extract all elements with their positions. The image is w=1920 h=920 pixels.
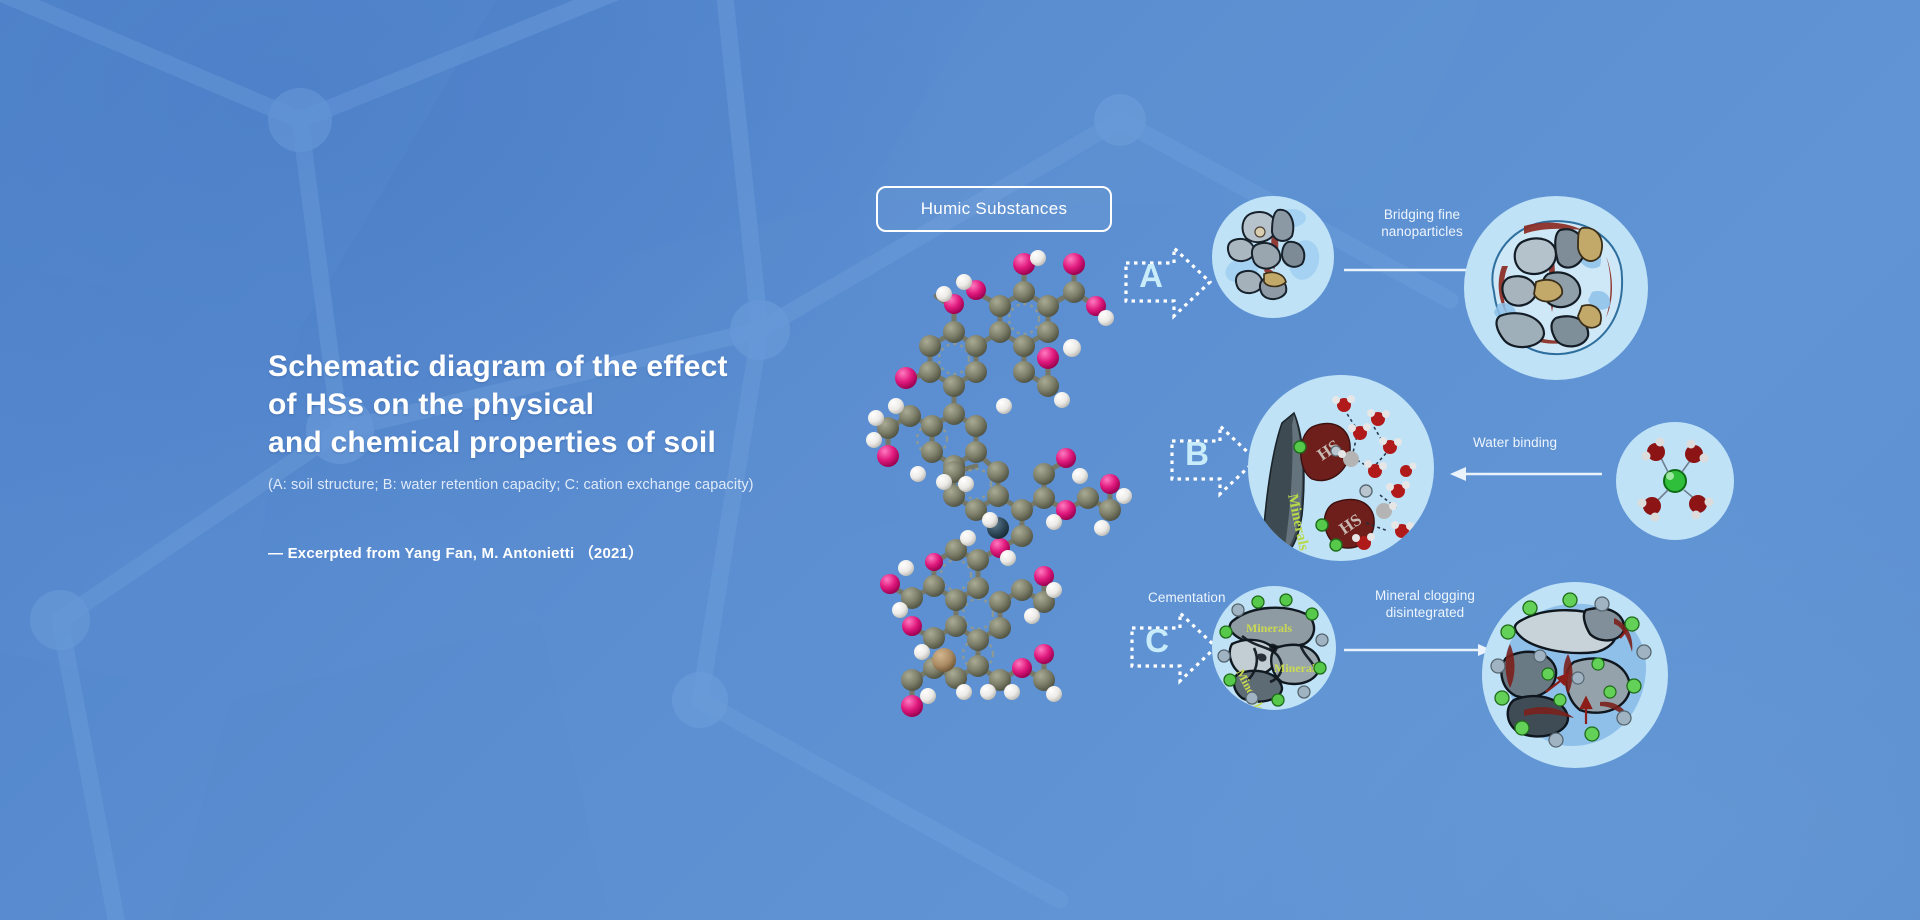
caption-line-1: Bridging fine — [1352, 206, 1492, 223]
step-marker-b: B — [1168, 428, 1246, 492]
humic-substances-label: Humic Substances — [876, 186, 1112, 232]
connector-arrow-c — [1344, 638, 1492, 667]
page-title: Schematic diagram of the effect of HSs o… — [268, 348, 888, 462]
sulfur-atom — [932, 648, 956, 672]
caption-line-2: disintegrated — [1348, 604, 1502, 621]
minerals-label-1: Minerals — [1246, 621, 1292, 635]
headline-line-2: of HSs on the physical — [268, 386, 888, 424]
soil-aggregate-circle-a1 — [1212, 196, 1334, 318]
headline-block: Schematic diagram of the effect of HSs o… — [268, 348, 888, 563]
soil-aggregate-circle-a2 — [1464, 196, 1648, 380]
step-letter-b: B — [1166, 421, 1228, 485]
connector-arrow-b — [1450, 462, 1602, 491]
caption-mineral-clogging-disintegrated: Mineral clogging disintegrated — [1348, 587, 1502, 621]
cemented-minerals-circle-c1: Minerals Minerals Minerals — [1212, 586, 1336, 710]
poster-canvas: Schematic diagram of the effect of HSs o… — [0, 0, 1920, 920]
step-marker-c: C — [1128, 615, 1206, 679]
caption-line-1: Mineral clogging — [1348, 587, 1502, 604]
subtitle: (A: soil structure; B: water retention c… — [268, 475, 888, 495]
attribution-credit: — Excerpted from Yang Fan, M. Antonietti… — [268, 542, 888, 563]
caption-line-1: Water binding — [1440, 434, 1590, 451]
step-letter-c: C — [1126, 608, 1188, 672]
headline-line-3: and chemical properties of soil — [268, 424, 888, 462]
hydrated-cation-circle-b2 — [1616, 422, 1734, 540]
caption-line-2: nanoparticles — [1352, 223, 1492, 240]
step-marker-a: A — [1122, 250, 1200, 314]
step-letter-a: A — [1120, 243, 1182, 307]
disintegrated-minerals-circle-c2 — [1482, 582, 1668, 768]
caption-water-binding: Water binding — [1440, 434, 1590, 451]
headline-line-1: Schematic diagram of the effect — [268, 348, 888, 386]
water-retention-circle-b: Minerals HS HS — [1248, 375, 1434, 561]
humic-substances-text: Humic Substances — [921, 199, 1068, 219]
caption-bridging-fine-nanoparticles: Bridging fine nanoparticles — [1352, 206, 1492, 240]
